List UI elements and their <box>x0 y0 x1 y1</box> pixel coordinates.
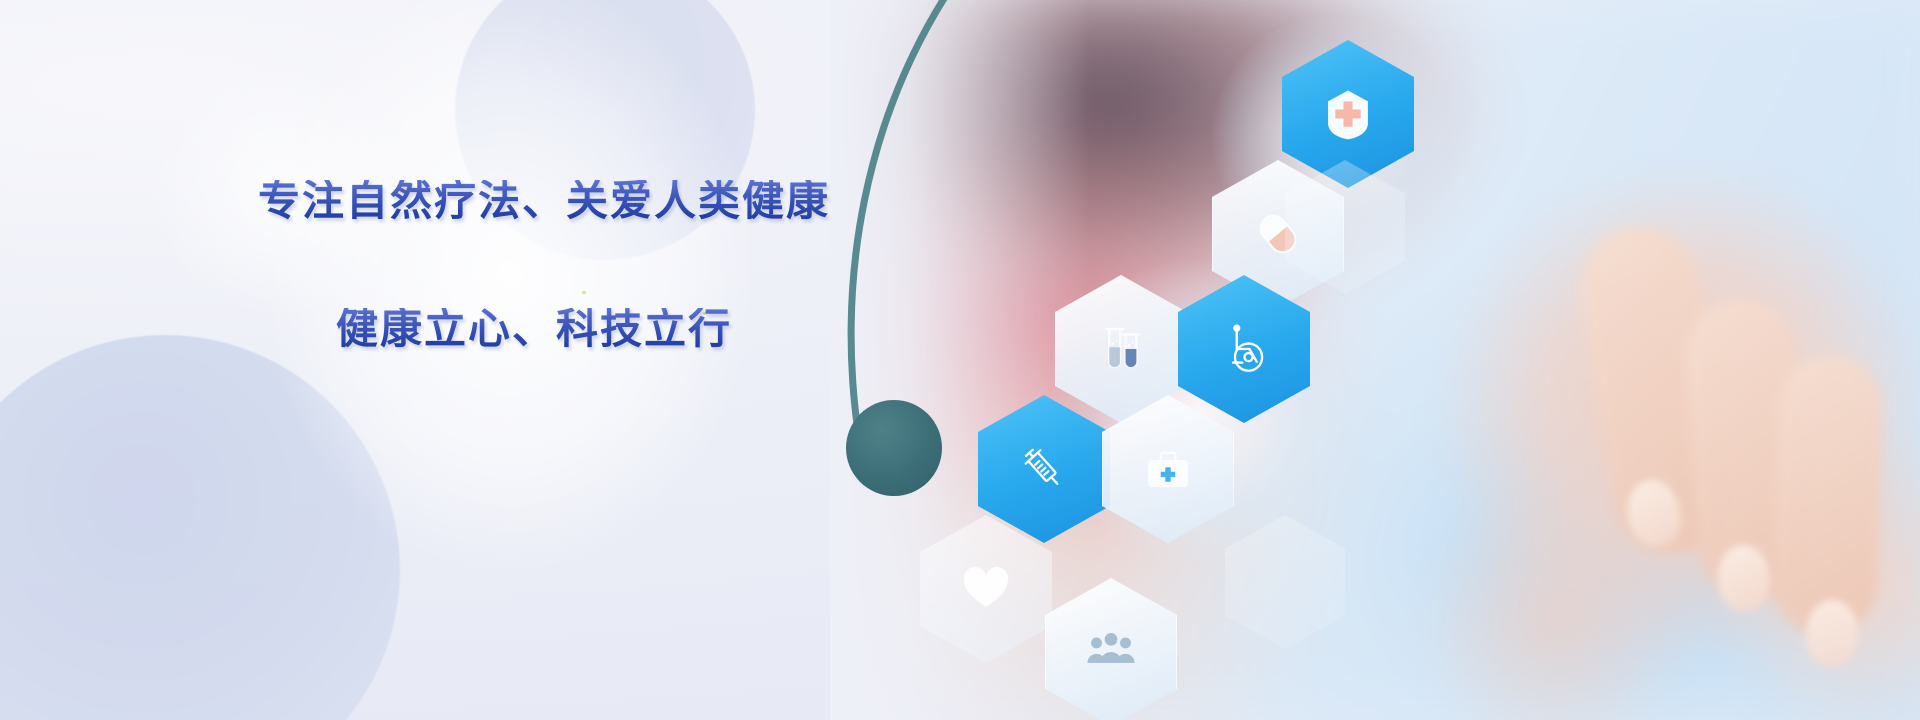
family-group-icon <box>1082 623 1140 681</box>
headline-copy: 专注自然疗法、关爱人类健康 健康立心、科技立行 <box>258 180 878 350</box>
decorative-circle-bottom <box>0 335 400 720</box>
hex-family-group-icon[interactable] <box>1045 578 1177 720</box>
hex-syringe-icon[interactable] <box>978 395 1110 543</box>
hex-heart-icon[interactable] <box>920 515 1052 663</box>
hero-banner: 专注自然疗法、关爱人类健康 健康立心、科技立行 <box>0 0 1920 720</box>
pointing-hand <box>1771 353 1885 636</box>
hex-decorative <box>1225 515 1345 649</box>
headline-line-1: 专注自然疗法、关爱人类健康 <box>258 180 878 222</box>
heart-icon <box>957 560 1015 618</box>
medical-cross-icon <box>1319 85 1377 143</box>
test-tubes-icon <box>1092 320 1150 378</box>
background-sheen <box>250 0 870 720</box>
first-aid-kit-icon <box>1139 440 1197 498</box>
syringe-icon <box>1015 440 1073 498</box>
hexagon-icon-cluster <box>930 20 1490 720</box>
teal-arc-dot <box>846 400 942 496</box>
wheelchair-icon <box>1215 320 1273 378</box>
headline-line-2: 健康立心、科技立行 <box>336 308 878 350</box>
